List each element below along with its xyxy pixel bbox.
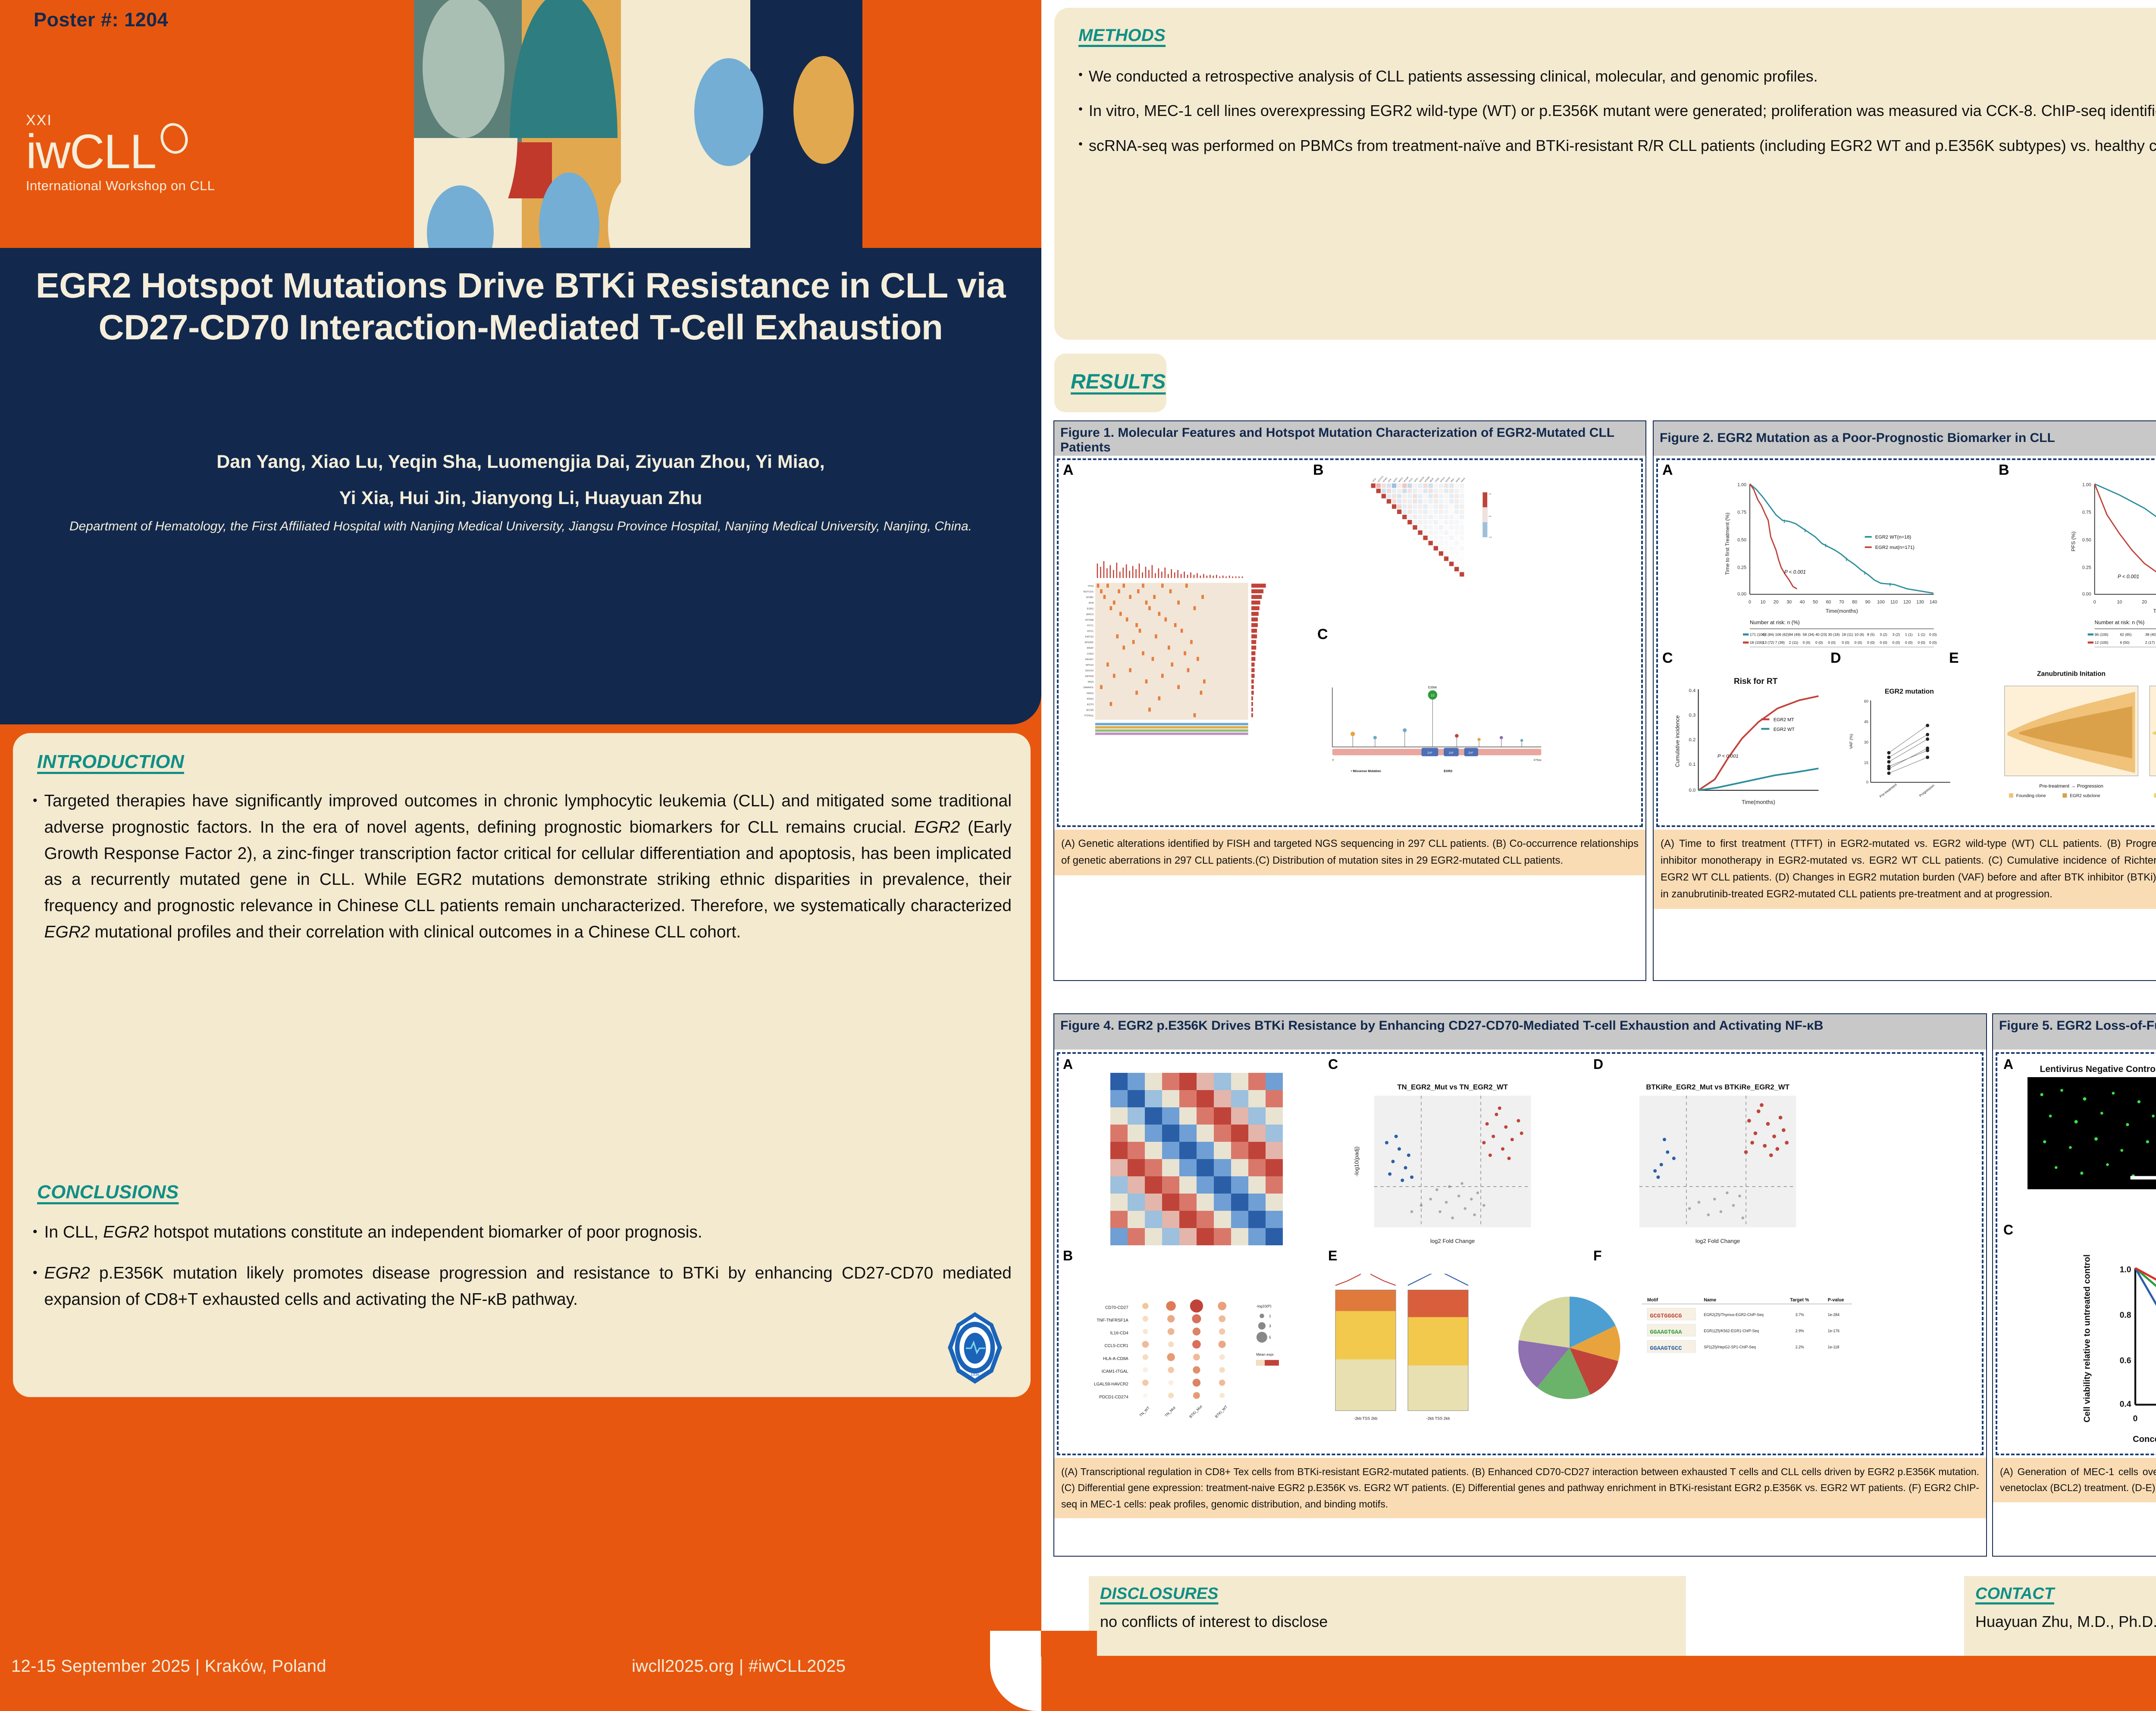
svg-text:476aa: 476aa <box>1533 759 1541 762</box>
svg-text:70: 70 <box>1839 600 1844 605</box>
clonal-evolution-fishplot: Zanubrutinib Initation Pre-treatment → P… <box>1968 663 2156 822</box>
right-column: METHODS • We conducted a retrospective a… <box>1041 0 2156 1711</box>
left-column: Poster #: 1204 XXI iwCLL International W… <box>0 0 1041 1711</box>
svg-text:0 (0): 0 (0) <box>1918 640 1925 645</box>
svg-text:0 (0): 0 (0) <box>1815 640 1823 645</box>
author-list: Dan Yang, Xiao Lu, Yeqin Sha, Luomengjia… <box>26 444 1015 517</box>
panel-label-c: C <box>2003 1222 2013 1238</box>
method-text: We conducted a retrospective analysis of… <box>1089 64 1818 89</box>
svg-text:VAF (%): VAF (%) <box>1849 734 1854 749</box>
svg-text:10: 10 <box>2117 600 2122 605</box>
svg-text:TN_WT: TN_WT <box>1138 1405 1150 1417</box>
volcano-plot-btki: BTKiRe_EGR2_Mut vs BTKiRe_EGR2_WT <box>1587 1074 1846 1246</box>
svg-text:BIRC3: BIRC3 <box>1086 613 1094 616</box>
svg-text:BRAF: BRAF <box>1429 477 1435 483</box>
conclusion-text-2: EGR2 p.E356K mutation likely promotes di… <box>44 1260 1012 1313</box>
svg-text:KMT2D: KMT2D <box>1085 636 1094 639</box>
svg-text:0.4: 0.4 <box>2120 1400 2131 1409</box>
fig5c-left-y-label: Cell viability relative to untreated con… <box>2082 1254 2092 1423</box>
svg-text:POT1: POT1 <box>1408 477 1413 483</box>
vaf-paired-chart: EGR2 mutation 6045 3015 0 <box>1843 663 1968 822</box>
contact-card: CONTACT Huayuan Zhu, M.D., Ph.D.,China E… <box>1964 1576 2156 1658</box>
svg-text:TNF-TNFRSF1A: TNF-TNFRSF1A <box>1097 1318 1128 1323</box>
svg-text:38 (40): 38 (40) <box>2145 632 2156 636</box>
fig2b-y-axis-label: PFS (%) <box>2070 532 2076 552</box>
deco-ellipse-5 <box>694 58 763 166</box>
chipseq-peak-profiles: -2kb TSS 2kb-2kb TSS 2kb <box>1317 1274 1498 1442</box>
svg-text:PTPN11: PTPN11 <box>1084 715 1094 718</box>
svg-text:Pre-treatment: Pre-treatment <box>1879 783 1898 799</box>
poster-number: Poster #: 1204 <box>34 9 168 31</box>
svg-text:SP1(Zf)/HepG2-SP1-ChIP-Seq: SP1(Zf)/HepG2-SP1-ChIP-Seq <box>1704 1345 1756 1349</box>
fig4-volcano-title-1: TN_EGR2_Mut vs TN_EGR2_WT <box>1397 1083 1508 1091</box>
iwcll-logo: XXI iwCLL International Workshop on CLL <box>26 112 259 194</box>
svg-text:0 (0): 0 (0) <box>1880 640 1887 645</box>
svg-text:EGR2 MT: EGR2 MT <box>1774 718 1794 723</box>
conclusion-item-1: • In CLL, EGR2 hotspot mutations constit… <box>33 1219 1012 1246</box>
svg-text:SAMHD1: SAMHD1 <box>1083 686 1094 689</box>
svg-text:EGR2 subclone: EGR2 subclone <box>2070 793 2100 798</box>
svg-text:50: 50 <box>1813 600 1818 605</box>
logo-subtitle: International Workshop on CLL <box>26 178 259 194</box>
svg-text:NRAS: NRAS <box>1455 477 1460 483</box>
footer-right <box>1041 1656 2156 1711</box>
figure-1-caption: (A) Genetic alterations identified by FI… <box>1054 830 1645 875</box>
footer-web-hashtag: iwcll2025.org | #iwCLL2025 <box>632 1657 846 1676</box>
svg-text:POT1: POT1 <box>1087 624 1094 627</box>
svg-text:1.00: 1.00 <box>2082 483 2091 488</box>
svg-text:5: 5 <box>1269 1335 1271 1339</box>
svg-text:BCOR: BCOR <box>1087 709 1094 711</box>
svg-text:6 (50): 6 (50) <box>2120 640 2129 645</box>
figure-1-panel: Figure 1. Molecular Features and Hotspot… <box>1053 420 1646 981</box>
svg-text:EGR2 WT: EGR2 WT <box>1774 727 1795 732</box>
fig1-inner-label-2: EGR2 <box>1444 769 1452 773</box>
svg-text:P < 0.001: P < 0.001 <box>2118 574 2139 580</box>
svg-text:0 (0): 0 (0) <box>1842 640 1849 645</box>
svg-text:18 (11): 18 (11) <box>1842 632 1853 636</box>
figure-2-panel: Figure 2. EGR2 Mutation as a Poor-Progno… <box>1653 420 2156 981</box>
tf-correlation-heatmap <box>1080 1073 1313 1245</box>
svg-text:13 (72): 13 (72) <box>1762 640 1774 645</box>
svg-text:2 (17): 2 (17) <box>2145 640 2155 645</box>
figure-2-title: Figure 2. EGR2 Mutation as a Poor-Progno… <box>1654 421 2156 456</box>
svg-text:1 (1): 1 (1) <box>1905 632 1913 636</box>
svg-text:0: 0 <box>1332 759 1334 762</box>
fig5c-left-x-label: Concentration of Zanubrutinib (uM) <box>2133 1435 2156 1442</box>
svg-text:XPO1: XPO1 <box>1087 630 1094 633</box>
contact-body: Huayuan Zhu, M.D., Ph.D.,China Email: Hu… <box>1975 1613 2156 1631</box>
svg-text:12 (100): 12 (100) <box>2095 640 2109 645</box>
svg-text:80: 80 <box>1852 600 1857 605</box>
methods-card: METHODS • We conducted a retrospective a… <box>1054 8 2156 340</box>
bullet-icon: • <box>1078 133 1083 158</box>
disclosures-heading: DISCLOSURES <box>1100 1585 1675 1603</box>
svg-text:TN_Mut: TN_Mut <box>1164 1405 1176 1418</box>
title-card: EGR2 Hotspot Mutations Drive BTKi Resist… <box>0 248 1041 724</box>
svg-text:0.3: 0.3 <box>1689 713 1695 718</box>
svg-text:-log10(padj): -log10(padj) <box>1353 1147 1360 1177</box>
svg-text:0 (0): 0 (0) <box>1893 640 1900 645</box>
richter-risk-chart: Risk for RT 0.40.3 0.20.1 0.0 EGR2 MT <box>1668 663 1832 822</box>
svg-text:Cumulative incidence: Cumulative incidence <box>1674 715 1680 767</box>
figure-2-caption: (A) Time to first treatment (TTFT) in EG… <box>1654 830 2156 909</box>
svg-text:58 (34): 58 (34) <box>1803 632 1814 636</box>
figure-5-panel: Figure 5. EGR2 Loss-of-Function Mutation… <box>1992 1013 2156 1557</box>
svg-text:EGR2 mut(n=171): EGR2 mut(n=171) <box>1875 545 1915 550</box>
svg-text:DDX3X: DDX3X <box>1445 476 1451 483</box>
svg-text:120: 120 <box>1903 600 1911 605</box>
figure-4-body: A B C D E F <box>1057 1052 1984 1455</box>
svg-text:FBXW7: FBXW7 <box>1085 658 1094 661</box>
svg-text:1.0: 1.0 <box>2120 1265 2131 1274</box>
deco-ellipse-1 <box>423 0 505 138</box>
svg-text:0.50: 0.50 <box>1737 538 1746 543</box>
svg-text:BIRC3: BIRC3 <box>1398 477 1404 483</box>
svg-text:Pre-treatment → Progression: Pre-treatment → Progression <box>2039 783 2103 789</box>
svg-text:30: 30 <box>1864 740 1868 745</box>
fig2c-title: Risk for RT <box>1734 677 1778 686</box>
svg-text:0.25: 0.25 <box>2082 565 2091 570</box>
svg-text:P < 0.001: P < 0.001 <box>1717 754 1739 759</box>
svg-text:BRAF: BRAF <box>1087 647 1094 650</box>
svg-text:P-value: P-value <box>1828 1297 1844 1303</box>
svg-text:MGA: MGA <box>1450 478 1454 483</box>
svg-text:3 (2): 3 (2) <box>1893 632 1900 636</box>
fig2-risk-table-header: Number at risk: n (%) <box>1750 620 1800 626</box>
fig2-legend: EGR2 WT(n=18) EGR2 mut(n=171) <box>1865 535 1915 550</box>
bullet-icon: • <box>33 1219 38 1246</box>
svg-text:1.00: 1.00 <box>1737 483 1746 488</box>
svg-text:40: 40 <box>1800 600 1805 605</box>
svg-text:0.0: 0.0 <box>1689 788 1695 793</box>
svg-text:EGR1(Zf)/K562-EGR1-ChIP-Seq: EGR1(Zf)/K562-EGR1-ChIP-Seq <box>1704 1329 1759 1333</box>
svg-text:130: 130 <box>1916 600 1924 605</box>
svg-text:84 (49): 84 (49) <box>1789 632 1801 636</box>
contact-heading: CONTACT <box>1975 1585 2156 1603</box>
introduction-heading: INTRODUCTION <box>37 751 184 773</box>
figure-5-title: Figure 5. EGR2 Loss-of-Function Mutation… <box>1993 1014 2156 1050</box>
svg-text:20: 20 <box>1774 600 1779 605</box>
bullet-icon: • <box>33 788 38 946</box>
svg-text:1 (1): 1 (1) <box>1918 632 1925 636</box>
svg-text:CHD2: CHD2 <box>1087 653 1094 655</box>
svg-text:XPO1: XPO1 <box>1413 477 1419 483</box>
svg-text:TP53: TP53 <box>1087 585 1094 588</box>
fig2e-title-left: Zanubrutinib Initation <box>2037 670 2106 677</box>
svg-text:NOTCH1: NOTCH1 <box>1083 591 1094 593</box>
figure-2-body: A B C D E 1.00 0.75 0.50 0.25 <box>1656 458 2156 827</box>
svg-text:10: 10 <box>1760 600 1765 605</box>
svg-text:ZMYM3: ZMYM3 <box>1085 675 1094 678</box>
svg-text:Mean expr.: Mean expr. <box>1256 1352 1274 1357</box>
svg-text:2.9%: 2.9% <box>1796 1329 1804 1333</box>
zanubrutinib-viability-chart: MEC-1 24h 1.00.80.60.4 0510 204080 Conce… <box>2036 1235 2156 1442</box>
svg-text:ATM: ATM <box>1388 478 1392 483</box>
bullet-icon: • <box>33 1260 38 1313</box>
svg-text:GCGTGGGCG: GCGTGGGCG <box>1650 1313 1682 1319</box>
svg-text:ZnF: ZnF <box>1468 752 1473 755</box>
conclusions-heading: CONCLUSIONS <box>37 1181 179 1203</box>
deco-rect-7 <box>862 0 1041 250</box>
svg-text:Number at risk: n (%): Number at risk: n (%) <box>2095 620 2145 626</box>
conclusion-item-2: • EGR2 p.E356K mutation likely promotes … <box>33 1260 1012 1313</box>
panel-label-e: E <box>1328 1248 1337 1264</box>
svg-text:EGR2(Zf)/Thymus-EGR2-ChIP-Seq: EGR2(Zf)/Thymus-EGR2-ChIP-Seq <box>1704 1313 1764 1317</box>
page-title: EGR2 Hotspot Mutations Drive BTKi Resist… <box>26 265 1015 349</box>
figure-4-caption: ((A) Transcriptional regulation in CD8+ … <box>1054 1458 1986 1518</box>
method-item: • scRNA-seq was performed on PBMCs from … <box>1078 133 2156 158</box>
fig2b-x-axis-label: Time(months) <box>2153 608 2156 614</box>
svg-text:0: 0 <box>1749 600 1751 605</box>
svg-text:90: 90 <box>1865 600 1871 605</box>
svg-text:0.0: 0.0 <box>1489 515 1491 517</box>
svg-text:RPS15: RPS15 <box>1440 476 1445 483</box>
panel-label-a: A <box>1063 1056 1073 1072</box>
svg-text:0.2: 0.2 <box>1689 737 1695 743</box>
svg-text:-log10(P): -log10(P) <box>1256 1304 1271 1308</box>
svg-text:0 (0): 0 (0) <box>1855 640 1862 645</box>
fluor-label-1: Lentivirus Negative Control <box>2028 1064 2156 1075</box>
svg-text:1e-176: 1e-176 <box>1828 1329 1839 1333</box>
svg-text:40 (23): 40 (23) <box>1815 632 1827 636</box>
svg-text:DDX3X: DDX3X <box>1085 670 1094 672</box>
svg-text:SF3B1: SF3B1 <box>1382 476 1388 483</box>
svg-text:CHD2: CHD2 <box>1435 477 1440 483</box>
figure-1-title: Figure 1. Molecular Features and Hotspot… <box>1054 421 1645 456</box>
ttft-km-chart: 1.00 0.75 0.50 0.25 0.00 01020 304050 60… <box>1671 475 1994 647</box>
svg-text:0.00: 0.00 <box>1737 592 1746 597</box>
panel-label-a: A <box>2003 1056 2013 1072</box>
svg-text:0 (0): 0 (0) <box>1929 632 1937 636</box>
svg-text:KRAS: KRAS <box>1087 698 1094 700</box>
panel-label-f: F <box>1593 1248 1602 1264</box>
footer-corner-curve <box>990 1631 1042 1711</box>
svg-text:IL16-CD4: IL16-CD4 <box>1110 1331 1128 1336</box>
svg-text:0 (0): 0 (0) <box>1803 640 1811 645</box>
svg-text:NRAS: NRAS <box>1087 692 1094 695</box>
svg-text:2 (11): 2 (11) <box>1789 640 1799 645</box>
figure-5-body: A B C D E Lentivirus Negative Control <box>1996 1052 2156 1455</box>
ligand-receptor-dotplot: CD70-CD27TNF-TNFRSF1A IL16-CD4CCL5-CCR1 … <box>1072 1269 1313 1442</box>
svg-text:8 (5): 8 (5) <box>1867 632 1875 636</box>
svg-text:NFKBIE: NFKBIE <box>1084 642 1094 644</box>
figure-1-body: A B C <box>1057 458 1643 827</box>
fig2-pvalue: P < 0.001 <box>1784 569 1806 575</box>
svg-text:7 (39): 7 (39) <box>1775 640 1785 645</box>
method-text: scRNA-seq was performed on PBMCs from tr… <box>1089 133 2156 158</box>
results-heading: RESULTS <box>1071 370 1166 394</box>
poster-root: Poster #: 1204 XXI iwCLL International W… <box>0 0 2156 1711</box>
svg-text:0.8: 0.8 <box>2120 1311 2131 1320</box>
header-band: Poster #: 1204 XXI iwCLL International W… <box>0 0 1041 250</box>
oncoprint-chart: TP53 NOTCH1 SF3B1 ATM EGR2 BIRC3 MYD88 P… <box>1065 475 1306 820</box>
svg-text:Motif: Motif <box>1647 1297 1658 1303</box>
figure-4-panel: Figure 4. EGR2 p.E356K Drives BTKi Resis… <box>1053 1013 1987 1557</box>
svg-text:KRAS: KRAS <box>1460 477 1466 483</box>
hospital-seal-logo: 1936 <box>943 1311 1007 1385</box>
fig2-x-axis-label: Time(months) <box>1826 608 1858 614</box>
fig1-inner-label-1: • Missense Mutation <box>1351 769 1382 773</box>
svg-text:96 (100): 96 (100) <box>2095 632 2109 636</box>
svg-text:0: 0 <box>2093 600 2096 605</box>
svg-text:GGAAGTGCC: GGAAGTGCC <box>1650 1345 1682 1352</box>
svg-text:0 (0): 0 (0) <box>1867 640 1875 645</box>
panel-label-b: B <box>1063 1248 1073 1264</box>
pfs-km-chart: 1.000.75 0.500.25 0.00 01020 304050 60 P… <box>2007 475 2156 647</box>
svg-text:PDCD1-CD274: PDCD1-CD274 <box>1099 1395 1128 1400</box>
panel-label-d: D <box>1593 1056 1603 1072</box>
header-decoration <box>414 0 1041 250</box>
svg-text:0.25: 0.25 <box>1737 565 1746 570</box>
svg-text:10 (6): 10 (6) <box>1855 632 1864 636</box>
introduction-text: Targeted therapies have significantly im… <box>44 788 1012 946</box>
fluorescence-image-row: Lentivirus Negative Control <box>2028 1064 2156 1211</box>
svg-text:log2 Fold Change: log2 Fold Change <box>1430 1238 1475 1244</box>
svg-text:60: 60 <box>1826 600 1831 605</box>
svg-text:30 (18): 30 (18) <box>1828 632 1839 636</box>
figure-4-title: Figure 4. EGR2 p.E356K Drives BTKi Resis… <box>1054 1014 1986 1050</box>
svg-text:E356K: E356K <box>1428 686 1437 689</box>
svg-text:MGA: MGA <box>1088 681 1094 683</box>
svg-text:BTKi_Mut: BTKi_Mut <box>1188 1404 1203 1419</box>
svg-text:62 (65): 62 (65) <box>2120 632 2131 636</box>
svg-text:ZnF: ZnF <box>1449 752 1454 755</box>
svg-text:1.0: 1.0 <box>1489 493 1491 495</box>
logo-iwcll-text: iwCLL <box>26 129 156 175</box>
svg-text:log2 Fold Change: log2 Fold Change <box>1695 1238 1740 1244</box>
methods-heading: METHODS <box>1078 26 1166 45</box>
svg-text:Founding clone: Founding clone <box>2016 793 2046 798</box>
svg-text:-2kb TSS 2kb: -2kb TSS 2kb <box>1426 1416 1450 1421</box>
fig2-y-axis-label: Time to first Treatment (%) <box>1724 513 1730 575</box>
bullet-icon: • <box>1078 64 1083 89</box>
svg-text:1e-284: 1e-284 <box>1828 1313 1839 1317</box>
svg-text:106 (62): 106 (62) <box>1775 632 1789 636</box>
fluor-image-1 <box>2028 1077 2156 1189</box>
svg-text:KMT2D: KMT2D <box>1419 476 1425 483</box>
footer-dates-location: 12-15 September 2025 | Kraków, Poland <box>11 1657 326 1676</box>
svg-text:TP53: TP53 <box>1372 477 1377 483</box>
svg-text:1e-118: 1e-118 <box>1828 1345 1839 1349</box>
svg-text:43 (84): 43 (84) <box>1762 632 1774 636</box>
bullet-icon: • <box>1078 98 1083 123</box>
svg-text:HLA-A-CD8A: HLA-A-CD8A <box>1103 1357 1128 1361</box>
svg-text:MYD88: MYD88 <box>1085 619 1094 621</box>
conclusion-text-1: In CLL, EGR2 hotspot mutations constitut… <box>44 1219 702 1246</box>
svg-text:IKZF3: IKZF3 <box>1087 703 1094 706</box>
svg-text:2.2%: 2.2% <box>1796 1345 1804 1349</box>
intro-conclusions-card: INTRODUCTION • Targeted therapies have s… <box>13 733 1031 1397</box>
svg-text:0 (0): 0 (0) <box>1929 640 1937 645</box>
genomic-distribution-pie <box>1498 1278 1641 1429</box>
svg-text:30: 30 <box>1786 600 1792 605</box>
svg-text:45: 45 <box>1864 720 1868 724</box>
volcano-plot-tn: TN_EGR2_Mut vs TN_EGR2_WT <box>1322 1074 1580 1246</box>
svg-text:BTKi_WT: BTKi_WT <box>1214 1404 1228 1419</box>
svg-text:ZnF: ZnF <box>1427 752 1432 755</box>
author-line-1: Dan Yang, Xiao Lu, Yeqin Sha, Luomengjia… <box>26 444 1015 480</box>
svg-text:LGALS9-HAVCR2: LGALS9-HAVCR2 <box>1094 1382 1128 1387</box>
svg-text:Name: Name <box>1704 1297 1716 1303</box>
svg-text:110: 110 <box>1890 600 1898 605</box>
svg-text:140: 140 <box>1930 600 1937 605</box>
svg-text:0: 0 <box>2133 1414 2138 1423</box>
affiliation: Department of Hematology, the First Affi… <box>43 517 998 536</box>
fig2d-title: EGR2 mutation <box>1885 688 1934 696</box>
svg-text:15: 15 <box>1864 761 1868 765</box>
svg-text:Target %: Target % <box>1790 1297 1809 1303</box>
footer-left: 12-15 September 2025 | Kraków, Poland iw… <box>0 1631 1041 1711</box>
svg-text:3 (2): 3 (2) <box>1880 632 1887 636</box>
svg-text:0.75: 0.75 <box>2082 510 2091 515</box>
svg-text:3.7%: 3.7% <box>1796 1313 1804 1317</box>
disclosures-body: no conflicts of interest to disclose <box>1100 1613 1675 1631</box>
svg-text:1936: 1936 <box>971 1373 979 1377</box>
svg-text:60: 60 <box>1864 699 1868 704</box>
svg-text:ATM: ATM <box>1088 602 1094 605</box>
svg-text:EGR2: EGR2 <box>1393 477 1398 483</box>
svg-text:0.6: 0.6 <box>2120 1357 2131 1366</box>
svg-text:-2kb TSS 2kb: -2kb TSS 2kb <box>1354 1416 1378 1421</box>
svg-text:0 (0): 0 (0) <box>1905 640 1913 645</box>
svg-text:0: 0 <box>1866 780 1868 784</box>
svg-text:Time(months): Time(months) <box>1742 799 1775 805</box>
svg-text:MYD88: MYD88 <box>1403 476 1409 483</box>
binding-motif-table: MotifName Target %P-value GCGTGGGCG EGR2… <box>1636 1274 1852 1442</box>
author-line-2: Yi Xia, Hui Jin, Jianyong Li, Huayuan Zh… <box>26 480 1015 517</box>
figure-5-caption: (A) Generation of MEC-1 cells overexpres… <box>1993 1458 2156 1502</box>
methods-list: • We conducted a retrospective analysis … <box>1078 64 2156 168</box>
svg-text:20: 20 <box>2142 600 2147 605</box>
svg-text:RPS15: RPS15 <box>1086 664 1094 667</box>
results-tab: RESULTS <box>1054 354 1166 412</box>
fig4-volcano-title-2: BTKiRe_EGR2_Mut vs BTKiRe_EGR2_WT <box>1646 1083 1789 1091</box>
disclosures-card: DISCLOSURES no conflicts of interest to … <box>1089 1576 1686 1658</box>
method-item: • In vitro, MEC-1 cell lines overexpress… <box>1078 98 2156 123</box>
svg-text:0 (0): 0 (0) <box>1828 640 1836 645</box>
svg-text:Progression: Progression <box>1918 783 1935 798</box>
svg-text:0.50: 0.50 <box>2082 538 2091 543</box>
introduction-paragraph: • Targeted therapies have significantly … <box>33 788 1012 946</box>
footer-right-corner <box>1041 1631 1097 1657</box>
svg-text:EGR2: EGR2 <box>1087 608 1094 610</box>
svg-text:-1.0: -1.0 <box>1489 536 1492 538</box>
svg-text:CD70-CD27: CD70-CD27 <box>1105 1305 1128 1310</box>
cooccurrence-chart: TP53 NOTCH1 SF3B1 ATM EGR2 BIRC3 MYD88 P… <box>1317 473 1559 637</box>
svg-text:EGR2 WT(n=18): EGR2 WT(n=18) <box>1875 535 1912 540</box>
method-item: • We conducted a retrospective analysis … <box>1078 64 2156 89</box>
svg-text:CCL5-CCR1: CCL5-CCR1 <box>1104 1344 1128 1348</box>
svg-text:0.75: 0.75 <box>1737 510 1746 515</box>
svg-text:GGAAGTGAA: GGAAGTGAA <box>1650 1329 1682 1336</box>
svg-text:1: 1 <box>1269 1314 1271 1318</box>
svg-text:SF3B1: SF3B1 <box>1086 596 1094 599</box>
svg-text:100: 100 <box>1877 600 1885 605</box>
method-text: In vitro, MEC-1 cell lines overexpressin… <box>1089 98 2156 123</box>
svg-text:ICAM1-ITGAL: ICAM1-ITGAL <box>1102 1369 1129 1374</box>
svg-text:18 (100): 18 (100) <box>1750 640 1764 645</box>
svg-text:3: 3 <box>1269 1324 1271 1328</box>
svg-text:12: 12 <box>1431 693 1435 697</box>
svg-text:0.4: 0.4 <box>1689 688 1695 693</box>
mutation-lollipop-chart: 12 E356K <box>1316 641 1557 814</box>
deco-ellipse-6 <box>793 56 854 164</box>
svg-text:0.00: 0.00 <box>2082 592 2091 597</box>
svg-text:0.1: 0.1 <box>1689 762 1695 767</box>
panel-label-c: C <box>1328 1056 1338 1072</box>
